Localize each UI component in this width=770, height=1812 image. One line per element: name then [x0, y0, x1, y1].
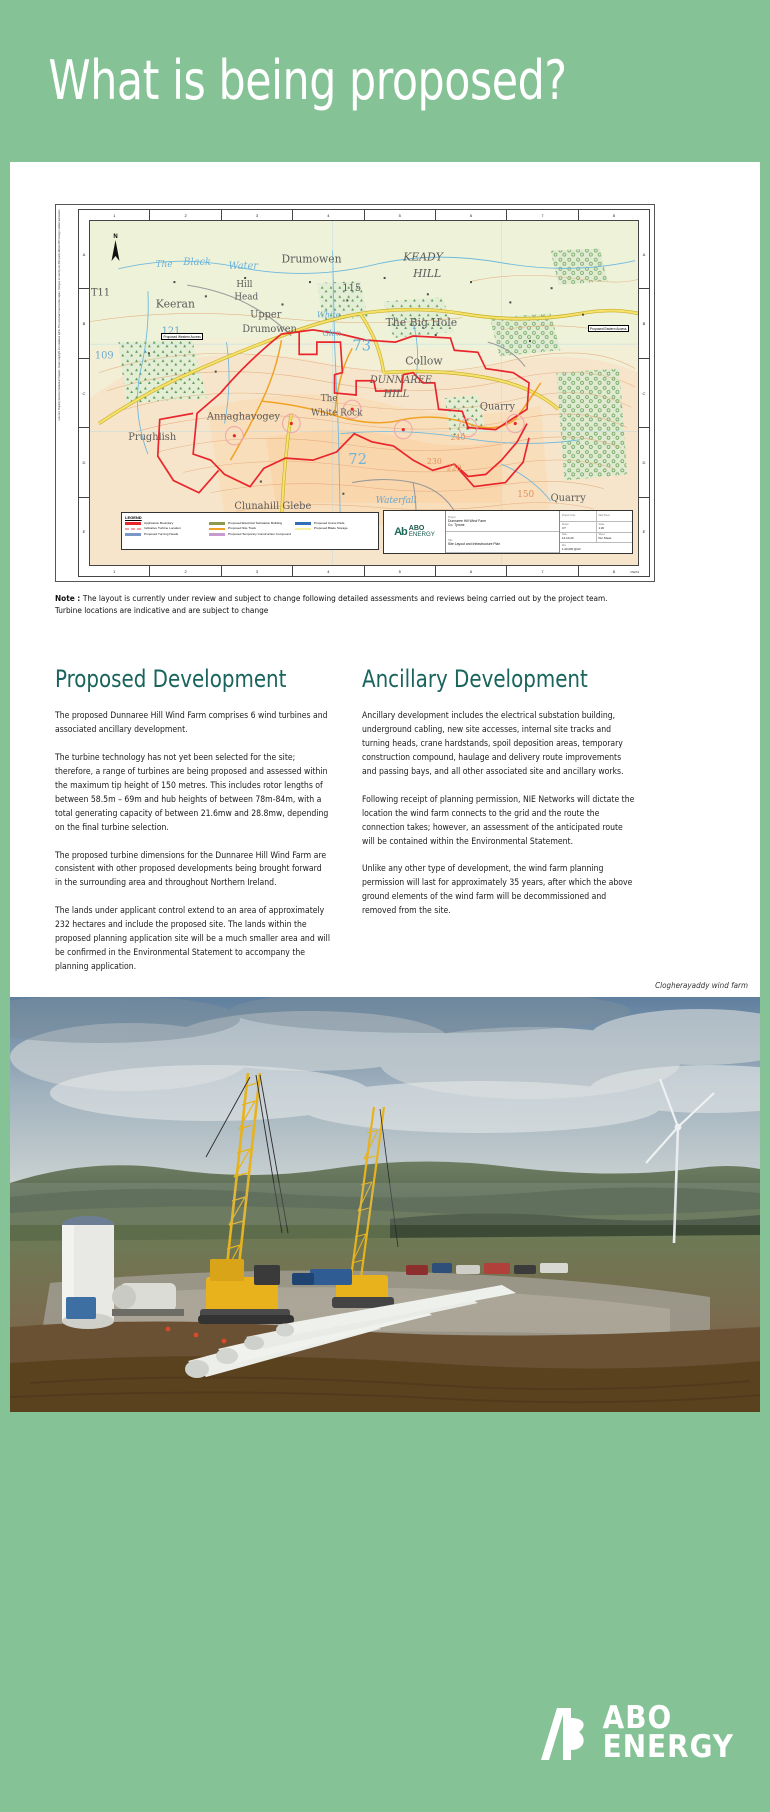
svg-text:Collow: Collow [405, 354, 443, 367]
paragraph: Ancillary development includes the elect… [362, 710, 637, 780]
svg-text:Keeran: Keeran [156, 297, 195, 310]
svg-text:220: 220 [447, 463, 462, 472]
ruler-tick: 5 [365, 566, 436, 576]
svg-text:Drumowen: Drumowen [242, 324, 297, 335]
svg-text:KEADY: KEADY [402, 251, 444, 264]
ruler-tick: 1 [79, 566, 150, 576]
paragraph: The proposed Dunnaree Hill Wind Farm com… [55, 710, 330, 738]
title-block-project-row: Project Dunnaree Hill Wind Farm Co. Tyro… [446, 511, 559, 532]
title-block-meta: Project Code Map Sheet DrawnCT Scale1:20… [560, 511, 632, 553]
legend-swatch-indicative-turbine-location [125, 528, 141, 531]
legend-item: Indicative Turbine Location [125, 527, 205, 530]
ruler-tick: 2 [150, 210, 221, 220]
svg-text:White: White [317, 311, 341, 320]
legend-label: Proposed Blade Storage [314, 527, 348, 530]
note-label: Note : [55, 593, 83, 603]
svg-text:The Big Hole: The Big Hole [386, 316, 458, 329]
map-ruler-top: 1 2 3 4 5 6 7 8 [79, 210, 649, 221]
legend-swatch-proposed-site-track [209, 528, 225, 531]
legend-label: Proposed Site Track [228, 527, 256, 530]
legend-title: LEGEND [125, 515, 375, 520]
map-ruler-left: A B C D E [79, 220, 90, 566]
svg-text:240: 240 [450, 433, 465, 442]
note-line-2: Turbine locations are indicative and are… [55, 605, 268, 615]
map-legend: LEGEND Application Boundary I [121, 512, 379, 550]
left-green-border [0, 0, 10, 1812]
svg-text:115: 115 [342, 283, 361, 294]
photo-graphic [10, 997, 760, 1412]
svg-text:Clunahill Glebe: Clunahill Glebe [234, 501, 311, 512]
footer-brand-line-2: ENERGY [603, 1733, 734, 1762]
legend-swatch-application-boundary [125, 522, 141, 525]
footer-brand: ABO ENERGY [537, 1702, 734, 1764]
ruler-tick: B [79, 289, 89, 358]
field-value-location: Co. Tyrone [448, 523, 557, 527]
north-arrow-icon: N [111, 234, 120, 262]
ruler-tick: 1 [79, 210, 150, 220]
meta-key: Map Sheet [599, 515, 631, 517]
svg-text:Quarry: Quarry [480, 401, 516, 412]
legend-swatch-proposed-turning-heads [125, 533, 141, 536]
legend-item: Proposed Turning Heads [125, 533, 205, 536]
svg-text:230: 230 [427, 457, 442, 466]
svg-text:Prughlish: Prughlish [128, 432, 176, 443]
map-ruler-bottom: 1 2 3 4 5 6 7 8 [79, 565, 649, 576]
meta-value: Per Sheet [599, 536, 631, 540]
abo-energy-logo-icon [537, 1702, 589, 1764]
meta-row: Project Code Map Sheet [560, 511, 632, 522]
legend-swatch-proposed-blade-storage [295, 528, 311, 531]
legend-item: Proposed Electrical Substation Building [209, 522, 291, 525]
svg-text:The: The [321, 394, 338, 404]
note-line-1: The layout is currently under review and… [83, 593, 608, 603]
ruler-tick: D [639, 428, 649, 497]
title-block-logo: Ab ABO ENERGY [384, 511, 446, 553]
ruler-tick: 4 [293, 210, 364, 220]
heading-ancillary-development: Ancillary Development [362, 667, 615, 692]
ruler-tick: A [639, 220, 649, 289]
legend-label: Proposed Temporary Construction Compound [228, 533, 291, 536]
ruler-tick: E [79, 498, 89, 566]
svg-text:Water: Water [228, 261, 259, 272]
meta-value: 1:20 [599, 526, 631, 530]
paragraph: The lands under applicant control extend… [55, 905, 330, 975]
page-footer: ABO ENERGY [0, 1412, 770, 1812]
ruler-tick: 6 [436, 210, 507, 220]
map-drawing-frame: 1 2 3 4 5 6 7 8 1 2 3 4 5 [78, 209, 650, 577]
meta-value: CT [562, 526, 594, 530]
legend-item: Proposed Blade Storage [295, 527, 375, 530]
svg-text:Glen: Glen [323, 329, 342, 338]
svg-text:109: 109 [95, 350, 114, 361]
legend-item: Application Boundary [125, 522, 205, 525]
meta-key: Project Code [562, 515, 594, 517]
ruler-tick: 6 [436, 566, 507, 576]
legend-label: Application Boundary [144, 522, 173, 525]
svg-text:T11: T11 [91, 287, 110, 298]
ruler-tick: 3 [222, 566, 293, 576]
title-block-fields: Project Dunnaree Hill Wind Farm Co. Tyro… [446, 511, 560, 553]
svg-text:150: 150 [517, 490, 534, 500]
text-columns: Proposed Development The proposed Dunnar… [55, 667, 665, 989]
svg-text:Drumowen: Drumowen [282, 253, 342, 266]
legend-swatch-proposed-temporary-construction-compound [209, 533, 225, 536]
legend-label: Proposed Electrical Substation Building [228, 522, 282, 525]
map-canvas: The Black Water Drumowen KEADY HILL Hill… [89, 220, 639, 566]
ruler-tick: 7 [507, 566, 578, 576]
ruler-tick: D [79, 428, 89, 497]
svg-text:Waterfall: Waterfall [376, 496, 417, 506]
page-title: What is being proposed? [0, 54, 567, 108]
meta-row: Rev1:20,000 @A3 [560, 543, 632, 553]
map-title-block: Ab ABO ENERGY Project Dunnaree Hill Wind… [383, 510, 633, 554]
svg-text:Quarry: Quarry [551, 493, 587, 504]
map-drawing-ref: DWA3 [630, 570, 639, 574]
map-note: Note : The layout is currently under rev… [55, 592, 655, 617]
abo-mark-icon: Ab [394, 527, 407, 538]
svg-text:White Rock: White Rock [311, 408, 363, 418]
wind-farm-construction-photo [10, 997, 760, 1412]
callout-proposed-eastern-access: Proposed Eastern Access [588, 325, 630, 332]
column-proposed-development: Proposed Development The proposed Dunnar… [55, 667, 330, 989]
ruler-tick: 5 [365, 210, 436, 220]
ruler-tick: C [639, 359, 649, 428]
svg-text:Black: Black [182, 257, 211, 268]
svg-text:73: 73 [352, 336, 371, 354]
photo-caption: Clogherayaddy wind farm [655, 981, 748, 990]
map-border: Land and Property Services Intellectual … [55, 204, 655, 582]
meta-row: Date14-10-20 SheetPer Sheet [560, 533, 632, 544]
title-block-title-row: Title Site Layout and Infrastructure Pla… [446, 532, 559, 553]
poster-page: What is being proposed? Land and Propert… [0, 0, 770, 1812]
svg-text:Hill: Hill [236, 280, 252, 290]
ruler-tick: 7 [507, 210, 578, 220]
ruler-tick: 4 [293, 566, 364, 576]
legend-swatch-proposed-crane-pads [295, 522, 311, 525]
paragraph: The proposed turbine dimensions for the … [55, 850, 330, 892]
site-layout-map[interactable]: Land and Property Services Intellectual … [55, 204, 655, 582]
legend-label: Indicative Turbine Location [144, 527, 181, 530]
ruler-tick: 8 [579, 210, 649, 220]
column-ancillary-development: Ancillary Development Ancillary developm… [362, 667, 637, 989]
svg-text:Annaghavogey: Annaghavogey [206, 411, 280, 422]
ruler-tick: C [79, 359, 89, 428]
meta-value: 1:20,000 @A3 [562, 547, 630, 551]
meta-row: DrawnCT Scale1:20 [560, 522, 632, 533]
content-area: Land and Property Services Intellectual … [10, 162, 760, 997]
svg-text:Upper: Upper [250, 310, 282, 321]
callout-proposed-western-access: Proposed Western Access [161, 333, 203, 340]
ruler-tick: 2 [150, 566, 221, 576]
svg-text:HILL: HILL [412, 267, 441, 280]
legend-swatch-proposed-electrical-substation-building [209, 522, 225, 525]
ruler-tick: A [79, 220, 89, 289]
legend-item: Proposed Site Track [209, 527, 291, 530]
meta-value: 14-10-20 [562, 536, 594, 540]
map-copyright-sidetext: Land and Property Services Intellectual … [58, 209, 76, 577]
legend-label: Proposed Crane Pads [314, 522, 344, 525]
heading-proposed-development: Proposed Development [55, 667, 308, 692]
paragraph: Unlike any other type of development, th… [362, 863, 637, 919]
ruler-tick: 3 [222, 210, 293, 220]
map-ruler-right: A B C D E [638, 220, 649, 566]
title-block-brand-2: ENERGY [409, 532, 435, 538]
svg-text:DUNNAREE: DUNNAREE [369, 375, 433, 386]
svg-text:72: 72 [348, 450, 367, 468]
ruler-tick: B [639, 289, 649, 358]
legend-label: Proposed Turning Heads [144, 533, 178, 536]
paragraph: Following receipt of planning permission… [362, 794, 637, 850]
page-header: What is being proposed? [0, 0, 770, 162]
field-value: Site Layout and Infrastructure Plan [448, 542, 557, 546]
legend-item: Proposed Crane Pads [295, 522, 375, 525]
right-green-border [760, 0, 770, 1812]
legend-item: Proposed Temporary Construction Compound [209, 533, 291, 536]
svg-text:HILL: HILL [383, 389, 410, 400]
ruler-tick: E [639, 498, 649, 566]
svg-text:The: The [156, 260, 173, 270]
svg-text:Head: Head [234, 292, 258, 302]
paragraph: The turbine technology has not yet been … [55, 752, 330, 836]
